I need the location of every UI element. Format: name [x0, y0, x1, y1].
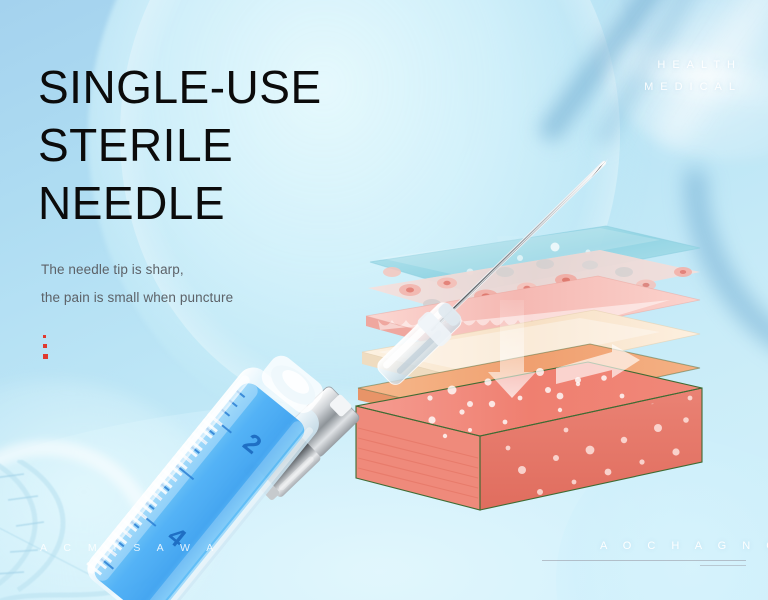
brand-top-right: HEALTH MEDICAL	[644, 54, 742, 98]
brand-bottom-left: A C M I S A W A	[40, 542, 220, 554]
blurred-glass-curve	[0, 407, 195, 600]
brand-underline	[542, 560, 746, 561]
dot-large	[43, 354, 48, 359]
poster-canvas: 2 4 SINGLE-USE STERILE NEEDLE The needle…	[0, 0, 768, 600]
brand-bottom-right: A O C H A G N G	[600, 540, 768, 552]
brand-medical-label: MEDICAL	[644, 76, 742, 98]
dna-helix-icon	[0, 460, 150, 600]
page-title: SINGLE-USE STERILE NEEDLE	[38, 58, 368, 232]
page-subtitle: The needle tip is sharp, the pain is sma…	[41, 256, 361, 312]
background-bottom-right-glow	[556, 430, 768, 600]
syringe-scale-label-2: 2	[237, 427, 267, 459]
brand-underline-short	[700, 565, 746, 566]
background-bottom-glow	[0, 400, 768, 600]
dot-medium	[43, 344, 47, 348]
blurred-curve-shape	[645, 78, 768, 397]
brand-health-label: HEALTH	[644, 54, 742, 76]
decorative-dots	[43, 335, 48, 365]
dot-small	[43, 335, 46, 338]
background-bottom-left-glow	[0, 380, 220, 600]
